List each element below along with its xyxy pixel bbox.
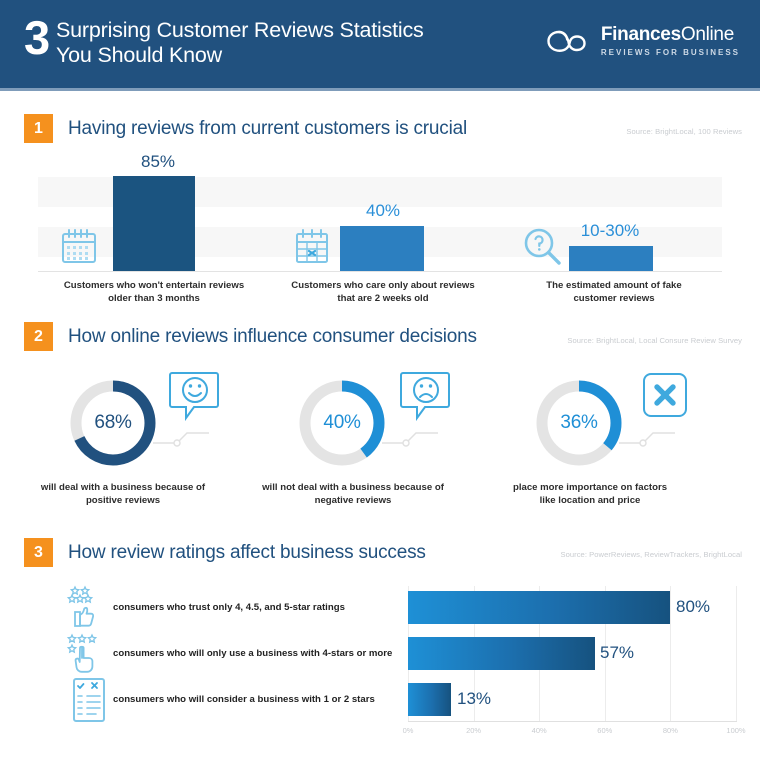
xtick-1: 20%	[464, 726, 484, 735]
section-1-bar-1	[340, 226, 424, 271]
xtick-4: 80%	[660, 726, 680, 735]
section-1-value-2: 10-30%	[560, 221, 660, 241]
section-2-title: How online reviews influence consumer de…	[68, 326, 477, 348]
section-3-axis-line	[408, 721, 737, 722]
section-1-title: Having reviews from current customers is…	[68, 118, 467, 140]
section-2-label-0-line2: positive reviews	[0, 494, 254, 507]
cloud-infinity-logo-icon	[544, 24, 592, 58]
magnifier-question-icon	[522, 226, 564, 268]
page-header: 3 Surprising Customer Reviews Statistics…	[0, 0, 760, 88]
logo-name-bold: Finances	[601, 24, 681, 45]
section-1-label-2-line1: The estimated amount of fake	[492, 279, 736, 292]
donut-chart-2: 36%	[533, 377, 625, 469]
xtick-2: 40%	[529, 726, 549, 735]
section-2-label-2-line1: place more importance on factors	[459, 481, 721, 494]
logo-tagline: REVIEWS FOR BUSINESS	[601, 49, 740, 57]
logo-text-block: FinancesOnline REVIEWS FOR BUSINESS	[601, 25, 740, 57]
section-1-value-1: 40%	[333, 201, 433, 221]
section-3-source: Source: PowerReviews, ReviewTrackers, Br…	[560, 550, 742, 559]
gridline-80	[670, 586, 671, 721]
section-2-label-1: will not deal with a business because of…	[222, 481, 484, 507]
section-3-value-2: 13%	[457, 689, 491, 709]
sad-face-bubble-icon	[399, 369, 453, 427]
section-1-label-2-line2: customer reviews	[492, 292, 736, 305]
stars-thumbs-up-icon	[66, 584, 108, 628]
section-1-label-1-line1: Customers who care only about reviews	[261, 279, 505, 292]
section-2-badge: 2	[24, 322, 53, 351]
section-3-bar-1	[408, 637, 595, 670]
section-2-label-2-line2: like location and price	[459, 494, 721, 507]
header-divider	[0, 88, 760, 91]
logo-name-light: Online	[681, 24, 734, 45]
section-2-label-0-line1: will deal with a business because of	[0, 481, 254, 494]
section-2-source: Source: BrightLocal, Local Consure Revie…	[567, 336, 742, 345]
donut-value-0: 68%	[67, 377, 159, 469]
section-1-source: Source: BrightLocal, 100 Reviews	[626, 127, 742, 136]
brand-logo[interactable]: FinancesOnline REVIEWS FOR BUSINESS	[544, 24, 740, 58]
calendar-x-icon	[293, 228, 331, 266]
section-1-baseline	[38, 271, 722, 272]
stars-pointing-hand-icon	[66, 632, 108, 676]
section-3-badge: 3	[24, 538, 53, 567]
section-1-label-1-line2: that are 2 weeks old	[261, 292, 505, 305]
section-3-label-0: consumers who trust only 4, 4.5, and 5-s…	[113, 602, 345, 613]
x-mark-box-icon	[641, 371, 689, 419]
donut-chart-0: 68%	[67, 377, 159, 469]
xtick-5: 100%	[724, 726, 748, 735]
section-3-label-2: consumers who will consider a business w…	[113, 694, 375, 705]
page-title: Surprising Customer Reviews Statistics Y…	[56, 18, 506, 68]
logo-name: FinancesOnline	[601, 25, 740, 44]
xtick-3: 60%	[595, 726, 615, 735]
infographic-page: 3 Surprising Customer Reviews Statistics…	[0, 0, 760, 760]
section-1-label-0-line2: older than 3 months	[32, 292, 276, 305]
donut-value-2: 36%	[533, 377, 625, 469]
xtick-0: 0%	[398, 726, 418, 735]
gridline-100	[736, 586, 737, 721]
section-1-label-2: The estimated amount of fake customer re…	[492, 279, 736, 305]
section-3-value-0: 80%	[676, 597, 710, 617]
section-3-value-1: 57%	[600, 643, 634, 663]
section-1-label-0-line1: Customers who won't entertain reviews	[32, 279, 276, 292]
section-2-label-1-line2: negative reviews	[222, 494, 484, 507]
section-1-label-0: Customers who won't entertain reviews ol…	[32, 279, 276, 305]
section-1-bar-2	[569, 246, 653, 271]
section-2-label-1-line1: will not deal with a business because of	[222, 481, 484, 494]
section-1-label-1: Customers who care only about reviews th…	[261, 279, 505, 305]
smiley-face-bubble-icon	[168, 369, 222, 427]
calendar-icon	[59, 228, 99, 266]
donut-chart-1: 40%	[296, 377, 388, 469]
section-1-badge: 1	[24, 114, 53, 143]
section-3-label-1: consumers who will only use a business w…	[113, 648, 392, 659]
page-title-line2: You Should Know	[56, 43, 506, 68]
checklist-icon	[70, 677, 108, 723]
section-1-bar-0	[113, 176, 195, 271]
header-number: 3	[24, 14, 49, 61]
section-3-bar-2	[408, 683, 451, 716]
section-3-title: How review ratings affect business succe…	[68, 542, 426, 564]
section-2-label-0: will deal with a business because of pos…	[0, 481, 254, 507]
section-2-label-2: place more importance on factors like lo…	[459, 481, 721, 507]
donut-value-1: 40%	[296, 377, 388, 469]
page-title-line1: Surprising Customer Reviews Statistics	[56, 18, 424, 42]
section-1-value-0: 85%	[108, 152, 208, 172]
section-3-bar-0	[408, 591, 670, 624]
